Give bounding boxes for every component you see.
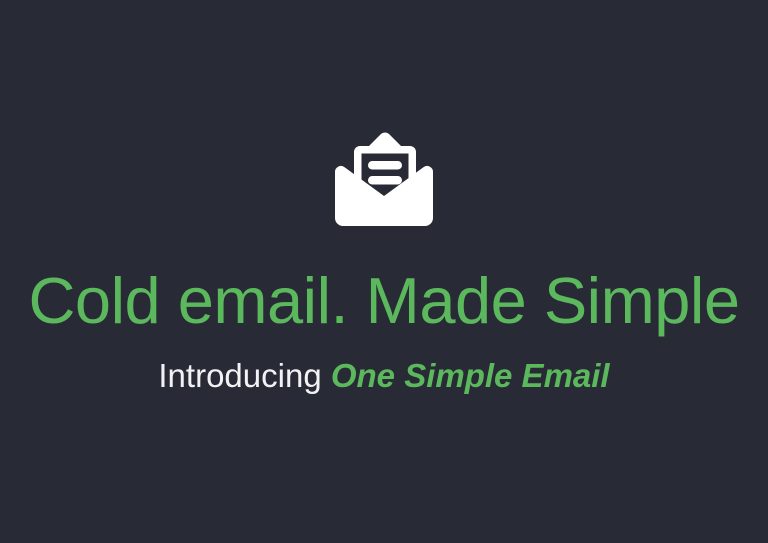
- product-name: One Simple Email: [331, 357, 610, 394]
- hero-section: Cold email. Made Simple Introducing One …: [0, 0, 768, 543]
- open-envelope-letter-icon: [333, 130, 435, 230]
- page-subtitle: Introducing One Simple Email: [158, 359, 609, 392]
- page-title: Cold email. Made Simple: [28, 268, 739, 333]
- subtitle-prefix: Introducing: [158, 357, 330, 394]
